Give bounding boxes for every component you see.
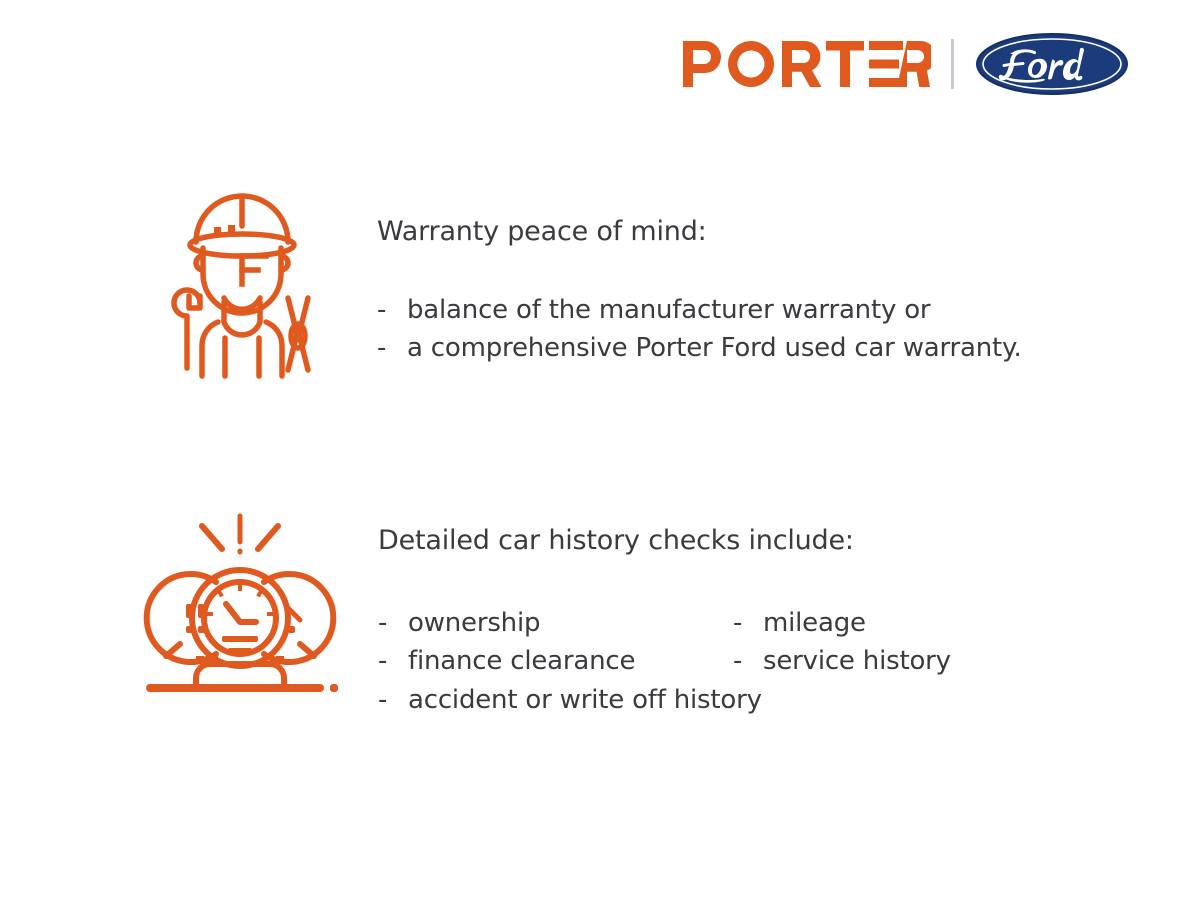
list-item-label: ownership <box>408 604 540 642</box>
history-checks-heading: Detailed car history checks include: <box>378 525 951 556</box>
list-row: - finance clearance - service history <box>378 642 951 680</box>
ford-logo <box>976 33 1128 95</box>
warranty-content: Warranty peace of mind: - balance of the… <box>377 186 1022 368</box>
list-item-label: service history <box>763 642 951 680</box>
list-item-label: a comprehensive Porter Ford used car war… <box>407 329 1022 367</box>
mechanic-worker-icon <box>162 186 322 381</box>
porter-wordmark <box>683 41 931 87</box>
logo-divider <box>951 39 954 89</box>
list-item: - balance of the manufacturer warranty o… <box>377 291 1022 329</box>
list-item: - a comprehensive Porter Ford used car w… <box>377 329 1022 367</box>
list-item: - accident or write off history <box>378 681 762 719</box>
bullet-marker: - <box>377 291 407 329</box>
bullet-marker: - <box>377 329 407 367</box>
list-item: - mileage <box>733 604 866 642</box>
list-row: - ownership - mileage <box>378 604 951 642</box>
list-item-label: balance of the manufacturer warranty or <box>407 291 930 329</box>
dashboard-gauges-icon <box>140 508 340 698</box>
warranty-section: Warranty peace of mind: - balance of the… <box>162 186 1022 381</box>
bullet-marker: - <box>378 642 408 680</box>
list-item: - ownership <box>378 604 733 642</box>
list-item: - finance clearance <box>378 642 733 680</box>
bullet-marker: - <box>378 604 408 642</box>
list-item: - service history <box>733 642 951 680</box>
list-item-label: mileage <box>763 604 866 642</box>
warranty-bullet-list: - balance of the manufacturer warranty o… <box>377 291 1022 368</box>
history-checks-content: Detailed car history checks include: - o… <box>378 508 951 719</box>
bullet-marker: - <box>378 681 408 719</box>
warranty-heading: Warranty peace of mind: <box>377 216 1022 247</box>
list-row: - accident or write off history <box>378 681 951 719</box>
history-checks-section: Detailed car history checks include: - o… <box>140 508 951 719</box>
bullet-marker: - <box>733 604 763 642</box>
list-item-label: finance clearance <box>408 642 635 680</box>
bullet-marker: - <box>733 642 763 680</box>
list-item-label: accident or write off history <box>408 681 762 719</box>
brand-logo-lockup <box>683 28 1128 100</box>
history-checks-bullet-list: - ownership - mileage - finance clearanc… <box>378 604 951 719</box>
